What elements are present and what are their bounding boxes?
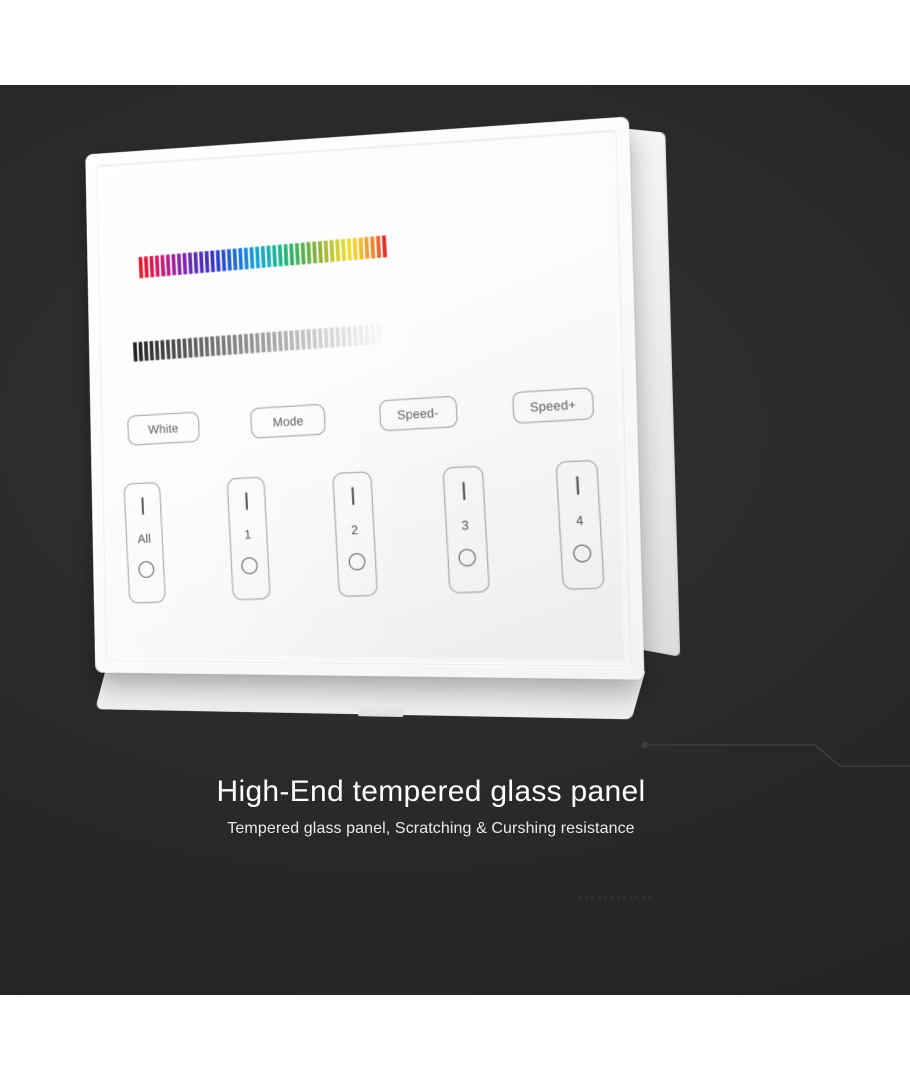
zone-button-1[interactable]: 1 bbox=[226, 477, 270, 601]
brightness-strip-segment[interactable] bbox=[312, 329, 317, 349]
brightness-strip-segment[interactable] bbox=[347, 326, 352, 346]
decorative-circuit-line bbox=[640, 740, 910, 780]
zone-button-label: All bbox=[137, 532, 151, 546]
chevron-left-icon: ‹ bbox=[610, 890, 614, 903]
chevron-left-icon: ‹ bbox=[635, 890, 639, 903]
color-strip-segment[interactable] bbox=[329, 240, 334, 262]
brightness-strip-segment[interactable] bbox=[177, 339, 182, 359]
power-off-icon[interactable] bbox=[458, 549, 476, 567]
device-container: WhiteModeSpeed-Speed+ All1234 bbox=[72, 135, 672, 715]
chevron-left-icon: ‹ bbox=[648, 890, 652, 903]
brightness-strip-segment[interactable] bbox=[370, 324, 375, 344]
zone-button-label: 3 bbox=[461, 518, 469, 533]
rgb-wall-touch-panel-controller[interactable]: WhiteModeSpeed-Speed+ All1234 bbox=[85, 116, 644, 679]
color-strip-segment[interactable] bbox=[295, 243, 300, 265]
chevron-left-icon: ‹ bbox=[584, 890, 588, 903]
color-strip-segment[interactable] bbox=[266, 246, 271, 268]
color-strip-segment[interactable] bbox=[233, 248, 238, 270]
brightness-strip-segment[interactable] bbox=[188, 338, 193, 358]
color-strip-segment[interactable] bbox=[347, 238, 352, 260]
brightness-strip-segment[interactable] bbox=[341, 327, 346, 347]
color-strip-segment[interactable] bbox=[216, 250, 221, 272]
color-strip-segment[interactable] bbox=[301, 242, 306, 264]
power-on-icon[interactable] bbox=[462, 482, 465, 500]
power-on-icon[interactable] bbox=[576, 476, 579, 495]
brightness-strip-segment[interactable] bbox=[249, 333, 254, 353]
color-strip-segment[interactable] bbox=[289, 243, 294, 265]
brightness-strip-segment[interactable] bbox=[364, 325, 369, 345]
color-strip-segment[interactable] bbox=[278, 244, 283, 266]
brightness-strip-segment[interactable] bbox=[155, 340, 160, 360]
color-strip-segment[interactable] bbox=[358, 237, 363, 259]
mode-button[interactable]: Mode bbox=[250, 404, 326, 439]
chevron-left-icon: ‹ bbox=[622, 890, 626, 903]
brightness-strip-segment[interactable] bbox=[289, 330, 294, 350]
brightness-strip-segment[interactable] bbox=[284, 331, 289, 351]
color-strip-segment[interactable] bbox=[244, 248, 249, 270]
device-bezel: WhiteModeSpeed-Speed+ All1234 bbox=[85, 116, 644, 679]
brightness-strip-segment[interactable] bbox=[166, 340, 171, 360]
zone-button-label: 4 bbox=[576, 513, 584, 528]
brightness-strip-segment[interactable] bbox=[210, 336, 215, 356]
power-off-icon[interactable] bbox=[241, 557, 258, 574]
function-button-label: Mode bbox=[272, 413, 303, 429]
brightness-touch-strip[interactable] bbox=[133, 309, 583, 362]
power-on-icon[interactable] bbox=[351, 487, 354, 505]
chevron-left-icon: ‹ bbox=[629, 890, 633, 903]
brightness-strip-segment[interactable] bbox=[324, 328, 329, 348]
brightness-strip-segment[interactable] bbox=[149, 341, 154, 361]
brightness-strip-segment[interactable] bbox=[144, 341, 149, 361]
brightness-strip-segment[interactable] bbox=[244, 334, 249, 354]
zone-button-label: 2 bbox=[351, 523, 359, 537]
power-on-icon[interactable] bbox=[141, 497, 144, 515]
brightness-strip-segment[interactable] bbox=[272, 332, 277, 352]
page-root: WhiteModeSpeed-Speed+ All1234 High-End t… bbox=[0, 0, 910, 1080]
brightness-strip-segment[interactable] bbox=[306, 329, 311, 349]
color-wheel-touch-strip[interactable] bbox=[139, 218, 579, 278]
brightness-strip-segment[interactable] bbox=[238, 334, 243, 354]
color-strip-segment[interactable] bbox=[227, 249, 232, 271]
brightness-strip-segment[interactable] bbox=[330, 327, 335, 347]
zone-button-2[interactable]: 2 bbox=[332, 471, 378, 597]
brightness-strip-segment[interactable] bbox=[160, 340, 165, 360]
function-button-label: Speed- bbox=[397, 405, 439, 422]
color-strip-segment[interactable] bbox=[188, 252, 193, 274]
chevron-left-icon: ‹ bbox=[641, 890, 645, 903]
white-button[interactable]: White bbox=[127, 411, 200, 445]
caption-block: High-End tempered glass panel Tempered g… bbox=[0, 775, 910, 838]
chevron-decoration-row: ‹‹‹‹‹‹‹‹‹‹‹‹ bbox=[578, 890, 652, 903]
brightness-strip-segment[interactable] bbox=[266, 332, 271, 352]
zone-button-4[interactable]: 4 bbox=[555, 460, 604, 590]
zone-button-label: 1 bbox=[244, 528, 251, 542]
brightness-strip-segment[interactable] bbox=[233, 335, 238, 355]
color-strip-segment[interactable] bbox=[160, 255, 165, 277]
color-strip-segment[interactable] bbox=[382, 235, 387, 257]
color-strip-segment[interactable] bbox=[324, 240, 329, 262]
chevron-left-icon: ‹ bbox=[603, 890, 607, 903]
tempered-glass-face: WhiteModeSpeed-Speed+ All1234 bbox=[103, 137, 624, 659]
brightness-strip-segment[interactable] bbox=[376, 324, 381, 344]
color-strip-segment[interactable] bbox=[306, 242, 311, 264]
caption-title: High-End tempered glass panel bbox=[0, 775, 862, 808]
color-strip-segment[interactable] bbox=[166, 254, 171, 276]
color-strip-segment[interactable] bbox=[376, 236, 381, 258]
brightness-strip-segment[interactable] bbox=[171, 339, 176, 359]
speed-up-button[interactable]: Speed+ bbox=[512, 387, 594, 424]
chevron-left-icon: ‹ bbox=[578, 890, 582, 903]
speed-down-button[interactable]: Speed- bbox=[378, 396, 457, 432]
color-strip-segment[interactable] bbox=[335, 239, 340, 261]
color-strip-segment[interactable] bbox=[177, 253, 182, 275]
brightness-strip-segment[interactable] bbox=[359, 325, 364, 345]
power-off-icon[interactable] bbox=[348, 553, 366, 571]
color-strip-segment[interactable] bbox=[193, 252, 198, 274]
power-off-icon[interactable] bbox=[572, 544, 591, 562]
color-strip-segment[interactable] bbox=[249, 247, 254, 269]
brightness-strip-segment[interactable] bbox=[318, 328, 323, 348]
color-strip-segment[interactable] bbox=[139, 257, 144, 278]
color-strip-segment[interactable] bbox=[341, 239, 346, 261]
color-strip-segment[interactable] bbox=[171, 254, 176, 276]
function-button-label: White bbox=[148, 421, 179, 436]
color-strip-segment[interactable] bbox=[149, 256, 154, 277]
color-strip-segment[interactable] bbox=[272, 245, 277, 267]
color-strip-segment[interactable] bbox=[182, 253, 187, 275]
color-strip-segment[interactable] bbox=[261, 246, 266, 268]
zone-button-3[interactable]: 3 bbox=[442, 465, 489, 593]
chevron-left-icon: ‹ bbox=[591, 890, 595, 903]
brightness-strip-segment[interactable] bbox=[255, 333, 260, 353]
color-strip-segment[interactable] bbox=[205, 251, 210, 273]
brightness-strip-segment[interactable] bbox=[353, 326, 358, 346]
color-strip-segment[interactable] bbox=[353, 238, 358, 260]
zone-button-row: All1234 bbox=[123, 460, 604, 604]
color-strip-segment[interactable] bbox=[221, 249, 226, 271]
power-off-icon[interactable] bbox=[138, 561, 154, 578]
brightness-strip-segment[interactable] bbox=[278, 331, 283, 351]
color-strip-segment[interactable] bbox=[318, 241, 323, 263]
brightness-strip-segment[interactable] bbox=[193, 338, 198, 358]
brightness-strip-segment[interactable] bbox=[261, 333, 266, 353]
color-strip-segment[interactable] bbox=[155, 255, 160, 277]
brightness-strip-segment[interactable] bbox=[227, 335, 232, 355]
chevron-left-icon: ‹ bbox=[616, 890, 620, 903]
zone-button-all[interactable]: All bbox=[123, 482, 166, 604]
color-strip-segment[interactable] bbox=[370, 236, 375, 258]
brightness-strip-segment[interactable] bbox=[216, 336, 221, 356]
color-strip-segment[interactable] bbox=[199, 251, 204, 273]
hero-dark-background: WhiteModeSpeed-Speed+ All1234 High-End t… bbox=[0, 85, 910, 995]
brightness-strip-segment[interactable] bbox=[133, 342, 138, 362]
function-button-row: WhiteModeSpeed-Speed+ bbox=[127, 387, 594, 445]
brightness-strip-segment[interactable] bbox=[199, 337, 204, 357]
brightness-strip-segment[interactable] bbox=[138, 342, 143, 362]
color-strip-segment[interactable] bbox=[364, 237, 369, 259]
function-button-label: Speed+ bbox=[529, 397, 576, 414]
brightness-strip-segment[interactable] bbox=[182, 338, 187, 358]
color-strip-segment[interactable] bbox=[255, 247, 260, 269]
brightness-strip-segment[interactable] bbox=[301, 330, 306, 350]
color-strip-segment[interactable] bbox=[238, 248, 243, 270]
brightness-strip-segment[interactable] bbox=[335, 327, 340, 347]
color-strip-segment[interactable] bbox=[312, 241, 317, 263]
color-strip-segment[interactable] bbox=[210, 250, 215, 272]
brightness-strip-segment[interactable] bbox=[205, 337, 210, 357]
chevron-left-icon: ‹ bbox=[597, 890, 601, 903]
power-on-icon[interactable] bbox=[245, 492, 248, 510]
caption-subtitle: Tempered glass panel, Scratching & Cursh… bbox=[0, 820, 862, 838]
color-strip-segment[interactable] bbox=[283, 244, 288, 266]
color-strip-segment[interactable] bbox=[144, 256, 149, 277]
brightness-strip-segment[interactable] bbox=[221, 336, 226, 356]
brightness-strip-segment[interactable] bbox=[295, 330, 300, 350]
